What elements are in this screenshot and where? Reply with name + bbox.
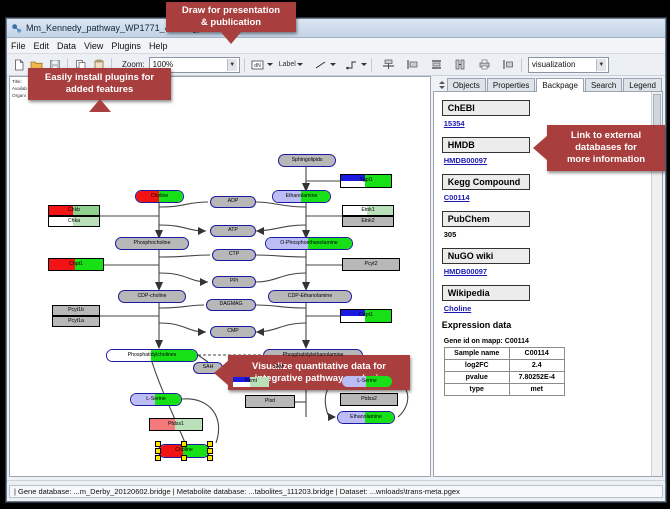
metabolite-node[interactable]: CMP	[210, 326, 256, 338]
selection-handle[interactable]	[207, 441, 213, 447]
backpage-section-header: NuGO wiki	[442, 248, 530, 264]
expression-row-key: pvalue	[444, 372, 509, 384]
selection-handle[interactable]	[181, 441, 187, 447]
new-file-icon[interactable]	[10, 56, 27, 73]
table-row: log2FC2.4	[444, 360, 564, 372]
gene-node[interactable]: Ptdss1	[149, 418, 203, 431]
tab-properties[interactable]: Properties	[487, 78, 535, 91]
metabolite-node[interactable]: L-Serine	[130, 393, 182, 406]
interaction-tool[interactable]	[343, 56, 367, 73]
node-label: Etnk2	[361, 219, 374, 224]
node-label: CMP	[227, 329, 239, 334]
gene-node[interactable]: Pcyt2	[342, 258, 400, 271]
node-label: CTP	[229, 252, 239, 257]
gene-node[interactable]: Cept1	[340, 309, 392, 323]
selection-handle[interactable]	[181, 455, 187, 461]
metabolite-node[interactable]: Phosphocholine	[115, 237, 189, 250]
chevron-down-icon[interactable]	[361, 63, 367, 66]
menu-item-help[interactable]: Help	[149, 41, 168, 51]
node-label: Pcyt1b	[68, 308, 84, 313]
backpage-section-header: Wikipedia	[442, 285, 530, 301]
metabolite-node[interactable]: CDP-Ethanolamine	[268, 290, 352, 303]
menubar[interactable]: File Edit Data View Plugins Help	[7, 38, 665, 54]
node-label: PPi	[230, 279, 238, 284]
node-label: Sphingolipids	[292, 158, 323, 163]
pathvisio-app-icon	[11, 23, 22, 34]
common-width-icon[interactable]	[452, 56, 469, 73]
node-label: L-Serine	[357, 379, 377, 384]
node-label: Choline	[151, 194, 169, 199]
metabolite-node[interactable]: L-Serine	[341, 375, 393, 388]
node-label: Ethanolamine	[286, 194, 318, 199]
menu-item-plugins[interactable]: Plugins	[111, 41, 141, 51]
backpage-external-link[interactable]: Choline	[444, 304, 662, 313]
expression-row-key: Sample name	[444, 348, 509, 360]
expression-row-value: 7.80252E-4	[509, 372, 564, 384]
metabolite-node[interactable]: CDP-choline	[118, 290, 186, 303]
chevron-down-icon[interactable]	[330, 63, 336, 66]
node-label: Etnk1	[361, 208, 374, 213]
align-top-icon[interactable]	[428, 56, 445, 73]
metabolite-node[interactable]: Choline	[135, 190, 184, 203]
gene-node[interactable]: Etnk1	[342, 205, 394, 216]
interaction-icon[interactable]	[343, 56, 360, 73]
annotation-line: Easily install plugins for	[45, 72, 154, 84]
node-label: ADP	[228, 199, 239, 204]
expression-row-value: C00114	[509, 348, 564, 360]
toolbar-separator	[521, 58, 522, 72]
window-titlebar: Mm_Kennedy_pathway_WP1771_45176.gpml	[7, 19, 665, 38]
annotation-draw-publication: Draw for presentation& publication	[166, 2, 296, 32]
tab-objects[interactable]: Objects	[447, 78, 486, 91]
metabolite-node[interactable]: ATP	[210, 225, 256, 237]
gene-node[interactable]: Chka	[48, 216, 100, 227]
metabolite-node[interactable]: Sphingolipids	[278, 154, 336, 167]
toolbar-separator	[371, 58, 372, 72]
chevron-down-icon[interactable]	[297, 63, 303, 66]
metabolite-node[interactable]: ADP	[210, 196, 256, 208]
align-center-icon[interactable]	[380, 56, 397, 73]
menu-item-file[interactable]: File	[11, 41, 26, 51]
node-label: Chpt1	[69, 262, 83, 267]
tab-legend[interactable]: Legend	[623, 78, 662, 91]
chevron-down-icon[interactable]: ▼	[596, 59, 606, 71]
datanode-tool[interactable]: dN	[249, 56, 273, 73]
expression-row-value: 2.4	[509, 360, 564, 372]
node-label: SAH	[203, 365, 214, 370]
line-icon[interactable]	[312, 56, 329, 73]
annotation-pointer-arrow	[214, 360, 229, 386]
annotation-line: Draw for presentation	[182, 5, 280, 17]
backpage-section-header: PubChem	[442, 211, 530, 227]
svg-text:dN: dN	[254, 63, 261, 69]
node-label: ATP	[228, 228, 238, 233]
expression-row-key: log2FC	[444, 360, 509, 372]
backpage-section-header: ChEBI	[442, 100, 530, 116]
metabolite-node[interactable]: Phosphatidylcholines	[106, 349, 198, 362]
backpage-section-header: Kegg Compound	[442, 174, 530, 190]
node-label: CDP-choline	[137, 294, 166, 299]
chevron-down-icon[interactable]: ▼	[227, 59, 237, 71]
expression-row-key: type	[444, 384, 509, 396]
expression-table: Sample nameC00114log2FC2.4pvalue7.80252E…	[444, 347, 565, 396]
node-label: Chka	[68, 219, 80, 224]
side-panel-tabs[interactable]: Objects Properties Backpage Search Legen…	[433, 76, 663, 92]
datanode-icon[interactable]: dN	[249, 56, 266, 73]
node-label: L-Serine	[146, 397, 166, 402]
label-tool[interactable]: Label	[279, 61, 303, 68]
node-label: Cept1	[359, 313, 373, 318]
tab-scroll-spinner[interactable]	[439, 79, 445, 91]
annotation-line: databases for	[575, 142, 637, 154]
selection-handle[interactable]	[155, 441, 161, 447]
annotation-line: & publication	[201, 17, 261, 29]
node-label: Ptdss1	[168, 422, 184, 427]
menu-item-edit[interactable]: Edit	[34, 41, 50, 51]
gene-node[interactable]: Pcyt1a	[52, 316, 100, 327]
node-label: Ethanolamine	[350, 415, 382, 420]
backpage-value: 305	[444, 230, 662, 239]
gene-node[interactable]: Ptdss2	[340, 393, 398, 406]
annotation-line: Link to external	[571, 130, 641, 142]
table-row: typemet	[444, 384, 564, 396]
statusbar-text: | Gene database: ...m_Derby_20120602.bri…	[9, 485, 663, 498]
node-label: Sgpl1	[359, 178, 372, 183]
statusbar: | Gene database: ...m_Derby_20120602.bri…	[7, 480, 665, 501]
node-label: Pisd	[265, 399, 275, 404]
selection-handle[interactable]	[155, 448, 161, 454]
node-label: O-Phosphoethanolamine	[280, 241, 337, 246]
gene-node[interactable]: Etnk2	[342, 216, 394, 227]
label-tool-caption: Label	[279, 61, 296, 68]
gene-node[interactable]: Pemt	[232, 376, 270, 388]
table-row: Sample nameC00114	[444, 348, 564, 360]
node-label: Phosphocholine	[134, 241, 171, 246]
menu-item-data[interactable]: Data	[57, 41, 76, 51]
gene-node[interactable]: Sgpl1	[340, 174, 392, 188]
gene-node[interactable]: Pisd	[245, 395, 295, 408]
gene-node[interactable]: Pcyt1b	[52, 305, 100, 316]
metabolite-node[interactable]: O-Phosphoethanolamine	[265, 237, 353, 250]
node-label: Chkb	[68, 208, 80, 213]
toolbar-separator	[244, 58, 245, 72]
annotation-line: more information	[567, 154, 645, 166]
backpage-external-link[interactable]: C00114	[444, 193, 662, 202]
pathway-canvas[interactable]: Title: Availab Organi	[9, 76, 431, 477]
selection-handle[interactable]	[207, 448, 213, 454]
node-label: Phosphatidylcholines	[128, 353, 177, 358]
expression-row-value: met	[509, 384, 564, 396]
chevron-down-icon[interactable]	[267, 63, 273, 66]
metabolite-node[interactable]: DAGMAG	[206, 299, 256, 311]
node-label: CDP-Ethanolamine	[288, 294, 332, 299]
menu-item-view[interactable]: View	[84, 41, 103, 51]
gene-node[interactable]: Chkb	[48, 205, 100, 216]
annotation-pointer-arrow	[533, 135, 548, 161]
selection-handle[interactable]	[207, 455, 213, 461]
distribute-horizontal-icon[interactable]	[500, 56, 517, 73]
node-label: SAM	[272, 365, 283, 370]
node-label: Choline	[175, 448, 193, 453]
node-label: Pcyt2	[365, 262, 378, 267]
line-tool[interactable]	[312, 56, 336, 73]
backpage-section-header: HMDB	[442, 137, 530, 153]
gene-node[interactable]: Chpt1	[48, 258, 104, 271]
backpage-external-link[interactable]: HMDB00097	[444, 267, 662, 276]
annotation-pointer-arrow	[89, 99, 111, 112]
annotation-install-plugins: Easily install plugins foradded features	[28, 68, 171, 100]
print-icon[interactable]	[476, 56, 493, 73]
align-left-icon[interactable]	[404, 56, 421, 73]
gene-id-line: Gene id on mapp: C00114	[444, 338, 662, 345]
tab-search[interactable]: Search	[585, 78, 622, 91]
metabolite-node[interactable]: Ethanolamine	[337, 411, 395, 424]
visualization-value: visualization	[532, 60, 576, 69]
metabolite-node[interactable]: PPi	[212, 276, 256, 288]
visualization-combobox[interactable]: visualization ▼	[528, 57, 609, 73]
node-label: Ptdss2	[361, 397, 377, 402]
selection-handle[interactable]	[155, 455, 161, 461]
node-label: DAGMAG	[219, 302, 242, 307]
node-label: Pcyt1a	[68, 319, 84, 324]
metabolite-node[interactable]: CTP	[212, 249, 256, 261]
annotation-pointer-arrow	[220, 31, 242, 44]
annotation-external-links: Link to externaldatabases formore inform…	[547, 125, 665, 171]
metabolite-node[interactable]: Ethanolamine	[272, 190, 331, 203]
node-label: Phosphatidylethanolamine	[283, 353, 344, 358]
annotation-line: added features	[66, 84, 134, 96]
screenshot-root: Mm_Kennedy_pathway_WP1771_45176.gpml Fil…	[0, 0, 670, 509]
tab-backpage[interactable]: Backpage	[536, 78, 584, 92]
expression-data-title: Expression data	[442, 320, 662, 330]
table-row: pvalue7.80252E-4	[444, 372, 564, 384]
node-label: Pemt	[245, 379, 257, 384]
